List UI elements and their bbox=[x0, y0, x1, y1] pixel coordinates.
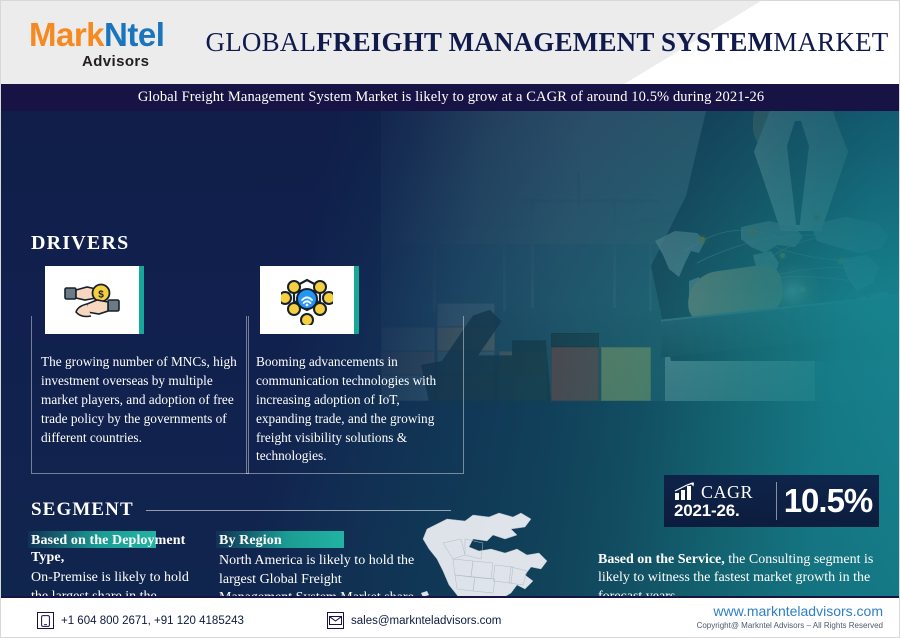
page-title: GLOBAL FREIGHT MANAGEMENT SYSTEM MARKET bbox=[197, 1, 897, 84]
infographic-root: MarkNtel Advisors GLOBAL FREIGHT MANAGEM… bbox=[0, 0, 900, 638]
logo-wordmark: MarkNtel bbox=[29, 18, 164, 51]
driver-card-frame-2 bbox=[246, 316, 464, 474]
company-logo: MarkNtel Advisors bbox=[29, 18, 164, 70]
cagr-label: CAGR bbox=[701, 483, 753, 501]
logo-text-mark: Mark bbox=[29, 16, 104, 53]
footer-phone-text: +1 604 800 2671, +91 120 4185243 bbox=[61, 615, 244, 627]
footer-phone[interactable]: +1 604 800 2671, +91 120 4185243 bbox=[37, 612, 244, 629]
segment-column-deployment: Based on the Deployment Type, On-Premise… bbox=[31, 531, 203, 596]
cagr-years: 2021-26. bbox=[674, 502, 776, 519]
drivers-heading: DRIVERS bbox=[31, 232, 129, 255]
page-title-part2: FREIGHT MANAGEMENT SYSTEM bbox=[316, 27, 773, 58]
segment-heading: SEGMENT bbox=[31, 499, 134, 521]
page-title-part3: MARKET bbox=[773, 27, 888, 58]
driver-icon-box-2 bbox=[260, 266, 354, 334]
logo-text-ntel: Ntel bbox=[104, 16, 164, 53]
cagr-top-row: CAGR bbox=[674, 482, 776, 501]
bar-chart-growth-icon bbox=[674, 482, 696, 501]
north-america-map bbox=[413, 509, 593, 596]
driver-icon-box-1: $ bbox=[45, 266, 139, 334]
money-exchange-icon: $ bbox=[63, 278, 121, 322]
hawaii-shape bbox=[421, 591, 429, 596]
cagr-value: 10.5% bbox=[777, 482, 879, 520]
footer-website-block[interactable]: www.marknteladvisors.com Copyright@ Mark… bbox=[697, 603, 883, 630]
footer-email[interactable]: sales@marknteladvisors.com bbox=[327, 612, 501, 629]
segment-column-service: Based on the Service, the Consulting seg… bbox=[598, 551, 886, 596]
driver-card-frame-1 bbox=[31, 316, 249, 474]
subtitle-text: Global Freight Management System Market … bbox=[138, 89, 764, 106]
segment-body-region: North America is likely to hold the larg… bbox=[219, 552, 415, 596]
page-title-part1: GLOBAL bbox=[206, 27, 317, 58]
envelope-icon bbox=[327, 612, 344, 629]
footer-copyright: Copyright@ Markntel Advisors – All Right… bbox=[697, 621, 883, 630]
segment-body-deployment: On-Premise is likely to hold the largest… bbox=[31, 569, 203, 596]
footer: +1 604 800 2671, +91 120 4185243 sales@m… bbox=[1, 596, 900, 638]
subtitle-bar: Global Freight Management System Market … bbox=[1, 84, 900, 111]
segment-tag-deployment: Based on the Deployment Type, bbox=[31, 531, 203, 567]
segment-tag-service: Based on the Service, bbox=[598, 552, 725, 567]
svg-text:$: $ bbox=[98, 290, 104, 301]
segment-heading-row: SEGMENT bbox=[31, 499, 451, 521]
segment-rule bbox=[146, 510, 451, 511]
footer-website-url[interactable]: www.marknteladvisors.com bbox=[697, 603, 883, 619]
segment-column-region: By Region North America is likely to hol… bbox=[219, 531, 415, 596]
body-section: DRIVERS $ The growing number of MNCs, hi… bbox=[1, 111, 900, 596]
cagr-label-group: CAGR 2021-26. bbox=[664, 482, 776, 519]
logo-subtext: Advisors bbox=[67, 53, 164, 70]
segment-body-service: Based on the Service, the Consulting seg… bbox=[598, 551, 886, 596]
footer-email-text: sales@marknteladvisors.com bbox=[351, 615, 501, 627]
iot-network-icon bbox=[281, 275, 333, 325]
segment-tag-region: By Region bbox=[219, 531, 282, 550]
cagr-badge: CAGR 2021-26. 10.5% bbox=[664, 475, 879, 527]
phone-icon bbox=[37, 612, 54, 629]
header: MarkNtel Advisors GLOBAL FREIGHT MANAGEM… bbox=[1, 1, 900, 84]
